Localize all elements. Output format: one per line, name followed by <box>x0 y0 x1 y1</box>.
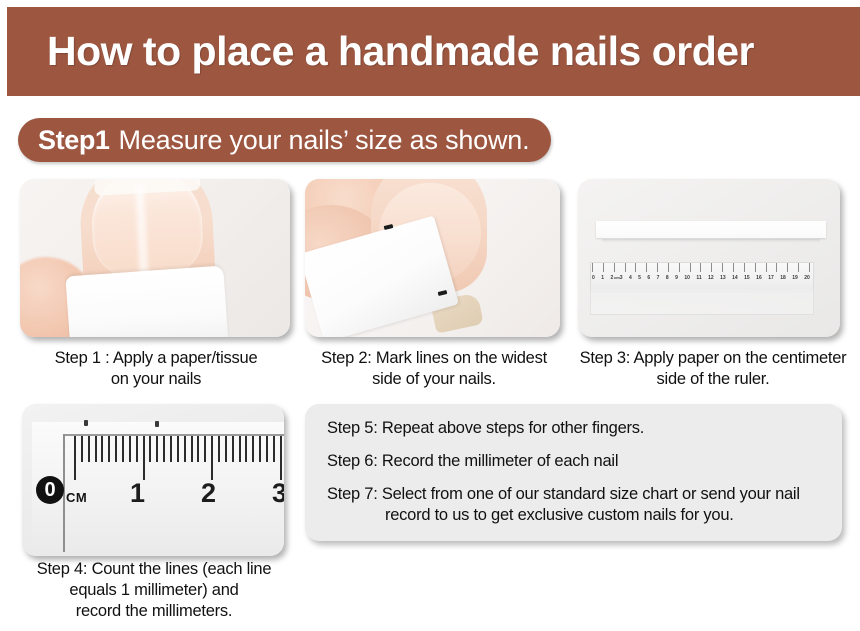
fingertip-with-paper-photo <box>20 179 290 337</box>
paper-strip-shadow <box>602 239 820 243</box>
ruler-unit: cm <box>614 272 620 284</box>
step5-text: Step 5: Repeat above steps for other fin… <box>327 419 644 437</box>
ruler-tick <box>755 263 756 272</box>
ruler-tick-marks <box>592 263 810 272</box>
ruler-number: 3 <box>620 272 623 284</box>
ruler-tick <box>809 263 810 272</box>
ruler-number: 9 <box>675 272 678 284</box>
ruler-tick <box>690 263 691 272</box>
ruler-millimeter-tick <box>143 436 145 480</box>
ruler-millimeter-tick <box>273 436 275 462</box>
ruler-number: 12 <box>708 272 714 284</box>
ruler-number: 20 <box>804 272 810 284</box>
ruler-tick <box>700 263 701 272</box>
ruler-millimeter-tick <box>252 436 254 462</box>
photo-card-step3: 01cm234567891011121314151617181920 <box>578 179 840 337</box>
caption-step3: Step 3: Apply paper on the centimeter si… <box>572 348 854 390</box>
ruler-tick <box>733 263 734 272</box>
photo-card-step4: 0 CM 123 <box>22 404 284 556</box>
caption-step4-line1: Step 4: Count the lines (each line <box>12 559 296 580</box>
ruler-number: 10 <box>684 272 690 284</box>
ruler-number: 18 <box>780 272 786 284</box>
paper-strip-shape <box>596 221 826 238</box>
caption-step2-line2: side of your nails. <box>298 369 570 390</box>
step1-bar: Step1 Measure your nails’ size as shown. <box>18 118 551 162</box>
caption-step3-line2: side of the ruler. <box>572 369 854 390</box>
ruler-millimeter-tick <box>177 436 179 462</box>
ruler-transparent-body <box>590 290 814 315</box>
ruler-millimeter-tick <box>136 436 138 462</box>
ruler-millimeter-tick <box>122 436 124 462</box>
ruler-millimeter-tick <box>184 436 186 462</box>
caption-step2: Step 2: Mark lines on the widest side of… <box>298 348 570 390</box>
ruler-millimeter-tick <box>197 436 199 462</box>
photo-card-step1 <box>20 179 290 337</box>
ruler-number: 6 <box>647 272 650 284</box>
ruler-number: 17 <box>768 272 774 284</box>
ruler-tick <box>603 263 604 272</box>
ruler-millimeter-tick <box>170 436 172 462</box>
ruler-tick <box>657 263 658 272</box>
ruler-tick <box>635 263 636 272</box>
ruler-millimeter-tick <box>149 436 151 462</box>
ruler-centimeter-label: 3 <box>272 478 284 509</box>
caption-step1-line2: on your nails <box>10 369 302 390</box>
caption-step1-line1: Step 1 : Apply a paper/tissue <box>10 348 302 369</box>
caption-step4-line2: equals 1 millimeter) and <box>12 580 296 601</box>
step7-text-continued: record to us to get exclusive custom nai… <box>385 505 820 526</box>
ruler-tick <box>722 263 723 272</box>
reference-dot-right <box>155 421 159 427</box>
ruler-millimeter-tick <box>156 436 158 462</box>
ruler-millimeter-tick <box>191 436 193 462</box>
step6-text: Step 6: Record the millimeter of each na… <box>327 452 618 470</box>
ruler-number-labels: 01cm234567891011121314151617181920 <box>590 272 812 284</box>
ruler-number: 5 <box>638 272 641 284</box>
ruler-tick <box>798 263 799 272</box>
step7-line: Step 7: Select from one of our standard … <box>327 484 820 526</box>
ruler-tick <box>679 263 680 272</box>
ruler-number: 1 <box>601 272 604 284</box>
page-header-banner: How to place a handmade nails order <box>7 7 860 96</box>
ruler-millimeter-tick <box>95 436 97 462</box>
ruler-tick <box>766 263 767 272</box>
ruler-centimeter-label: 2 <box>201 478 216 509</box>
ruler-millimeter-tick <box>74 436 76 480</box>
ruler-millimeter-tick <box>108 436 110 462</box>
steps-5-7-panel: Step 5: Repeat above steps for other fin… <box>305 404 842 541</box>
ruler-millimeter-tick <box>225 436 227 462</box>
ruler-number: 13 <box>720 272 726 284</box>
caption-step4-line3: record the millimeters. <box>12 601 296 622</box>
step1-instruction: Measure your nails’ size as shown. <box>119 125 530 156</box>
step6-line: Step 6: Record the millimeter of each na… <box>327 451 820 472</box>
ruler-millimeter-tick <box>101 436 103 462</box>
caption-step4: Step 4: Count the lines (each line equal… <box>12 559 296 622</box>
step7-text: Step 7: Select from one of our standard … <box>327 485 800 503</box>
ruler-millimeter-tick <box>218 436 220 462</box>
ruler-millimeter-tick <box>88 436 90 462</box>
ruler-number: 11 <box>696 272 701 284</box>
ruler-number: 7 <box>657 272 660 284</box>
ruler-millimeter-tick <box>245 436 247 462</box>
ruler-millimeter-tick <box>163 436 165 462</box>
ruler-number: 14 <box>732 272 738 284</box>
ruler-tick <box>744 263 745 272</box>
ruler-tick <box>625 263 626 272</box>
ruler-millimeter-tick <box>204 436 206 462</box>
ruler-tick <box>592 263 593 272</box>
ruler-number: 8 <box>666 272 669 284</box>
paper-strip-shape <box>65 266 228 337</box>
ruler-millimeter-tick <box>259 436 261 462</box>
ruler-tick <box>646 263 647 272</box>
caption-step3-line1: Step 3: Apply paper on the centimeter <box>572 348 854 369</box>
ruler-millimeter-tick <box>81 436 83 462</box>
ruler-closeup-photo: 0 CM 123 <box>22 404 284 556</box>
caption-step2-line1: Step 2: Mark lines on the widest <box>298 348 570 369</box>
ruler-millimeter-tick <box>280 436 282 480</box>
ruler-number: 4 <box>629 272 632 284</box>
caption-step1: Step 1 : Apply a paper/tissue on your na… <box>10 348 302 390</box>
ruler-centimeter-label: 1 <box>130 478 145 509</box>
ruler-tick <box>668 263 669 272</box>
ruler-number: 0 <box>592 272 595 284</box>
ruler-tick <box>787 263 788 272</box>
ruler-millimeter-tick <box>239 436 241 462</box>
step5-line: Step 5: Repeat above steps for other fin… <box>327 418 820 439</box>
ruler-number: 2 <box>610 272 613 284</box>
reference-dot-left <box>84 420 88 426</box>
photo-card-step2 <box>305 179 560 337</box>
step1-label: Step1 <box>38 125 110 156</box>
ruler-number: 15 <box>744 272 750 284</box>
ruler-centimeter-labels: 123 <box>68 478 280 514</box>
ruler-millimeter-tick <box>115 436 117 462</box>
ruler-tick <box>711 263 712 272</box>
ruler-tick <box>776 263 777 272</box>
ruler-millimeter-tick <box>211 436 213 480</box>
ruler-tick <box>614 263 615 272</box>
ruler-millimeter-tick <box>232 436 234 462</box>
marked-paper-strip-photo <box>305 179 560 337</box>
ruler-millimeter-ticks <box>74 436 282 480</box>
ruler-number: 16 <box>756 272 762 284</box>
ruler-millimeter-tick <box>129 436 131 462</box>
ruler-number: 19 <box>792 272 798 284</box>
ruler-millimeter-tick <box>266 436 268 462</box>
ruler-zero-label: 0 <box>36 476 64 504</box>
paper-on-ruler-photo: 01cm234567891011121314151617181920 <box>578 179 840 337</box>
page-title: How to place a handmade nails order <box>47 28 754 75</box>
